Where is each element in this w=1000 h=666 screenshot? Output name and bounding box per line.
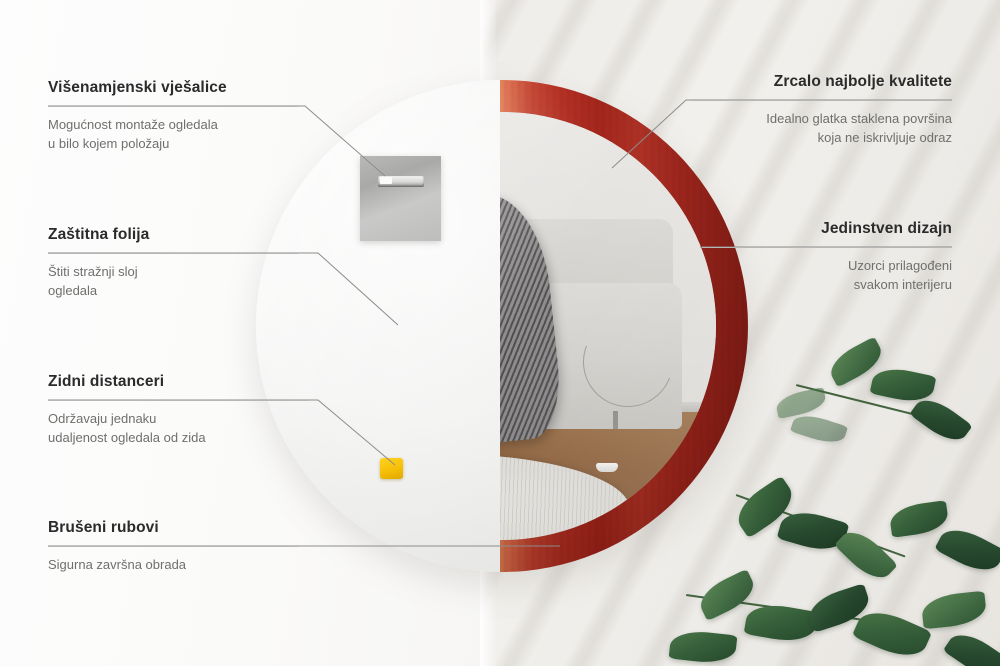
spacer-block <box>380 458 403 479</box>
plant-leaf <box>774 387 827 419</box>
plant-leaf <box>790 410 848 448</box>
callout-rule <box>692 100 952 101</box>
plant-leaf <box>909 392 972 449</box>
callout-title: Brušeni rubovi <box>48 519 298 537</box>
hanger-keyhole-slot <box>378 176 424 187</box>
callout-protective-film: Zaštitna folija Štiti stražnji sloj ogle… <box>48 226 298 301</box>
callout-desc: Uzorci prilagođeni svakom interijeru <box>702 257 952 295</box>
callout-title: Zaštitna folija <box>48 226 298 244</box>
callout-best-quality: Zrcalo najbolje kvalitete Idealno glatka… <box>692 73 952 148</box>
mirror-product <box>256 80 748 572</box>
callout-title: Višenamjenski vješalice <box>48 79 298 97</box>
plant-leaf <box>888 500 950 538</box>
plant-leaf <box>943 626 1000 666</box>
callout-desc: Sigurna završna obrada <box>48 556 298 575</box>
callout-rule <box>48 106 298 107</box>
decorative-plant <box>676 344 1000 666</box>
callout-unique-design: Jedinstven dizajn Uzorci prilagođeni sva… <box>702 220 952 295</box>
callout-rule <box>702 247 952 248</box>
callout-desc: Idealno glatka staklena površina koja ne… <box>692 110 952 148</box>
plant-leaf <box>921 591 988 630</box>
callout-rule <box>48 253 298 254</box>
callout-polished-edges: Brušeni rubovi Sigurna završna obrada <box>48 519 298 575</box>
callout-hangers: Višenamjenski vješalice Mogućnost montaž… <box>48 79 298 154</box>
infographic-canvas: Višenamjenski vješalice Mogućnost montaž… <box>0 0 1000 666</box>
callout-rule <box>48 400 308 401</box>
hanger-plate <box>360 156 441 241</box>
callout-title: Zrcalo najbolje kvalitete <box>692 73 952 91</box>
callout-desc: Održavaju jednaku udaljenost ogledala od… <box>48 410 308 448</box>
callout-rule <box>48 546 298 547</box>
reflection-lamp-shade <box>596 463 618 472</box>
callout-title: Zidni distanceri <box>48 373 308 391</box>
plant-leaf <box>852 603 932 665</box>
plant-leaf <box>934 521 1000 579</box>
callout-desc: Mogućnost montaže ogledala u bilo kojem … <box>48 116 298 154</box>
callout-title: Jedinstven dizajn <box>702 220 952 238</box>
callout-desc: Štiti stražnji sloj ogledala <box>48 263 298 301</box>
plant-leaf <box>669 629 738 666</box>
callout-wall-spacers: Zidni distanceri Održavaju jednaku udalj… <box>48 373 308 448</box>
plant-leaf <box>744 600 819 646</box>
reflection-sofa-leg <box>613 411 618 429</box>
